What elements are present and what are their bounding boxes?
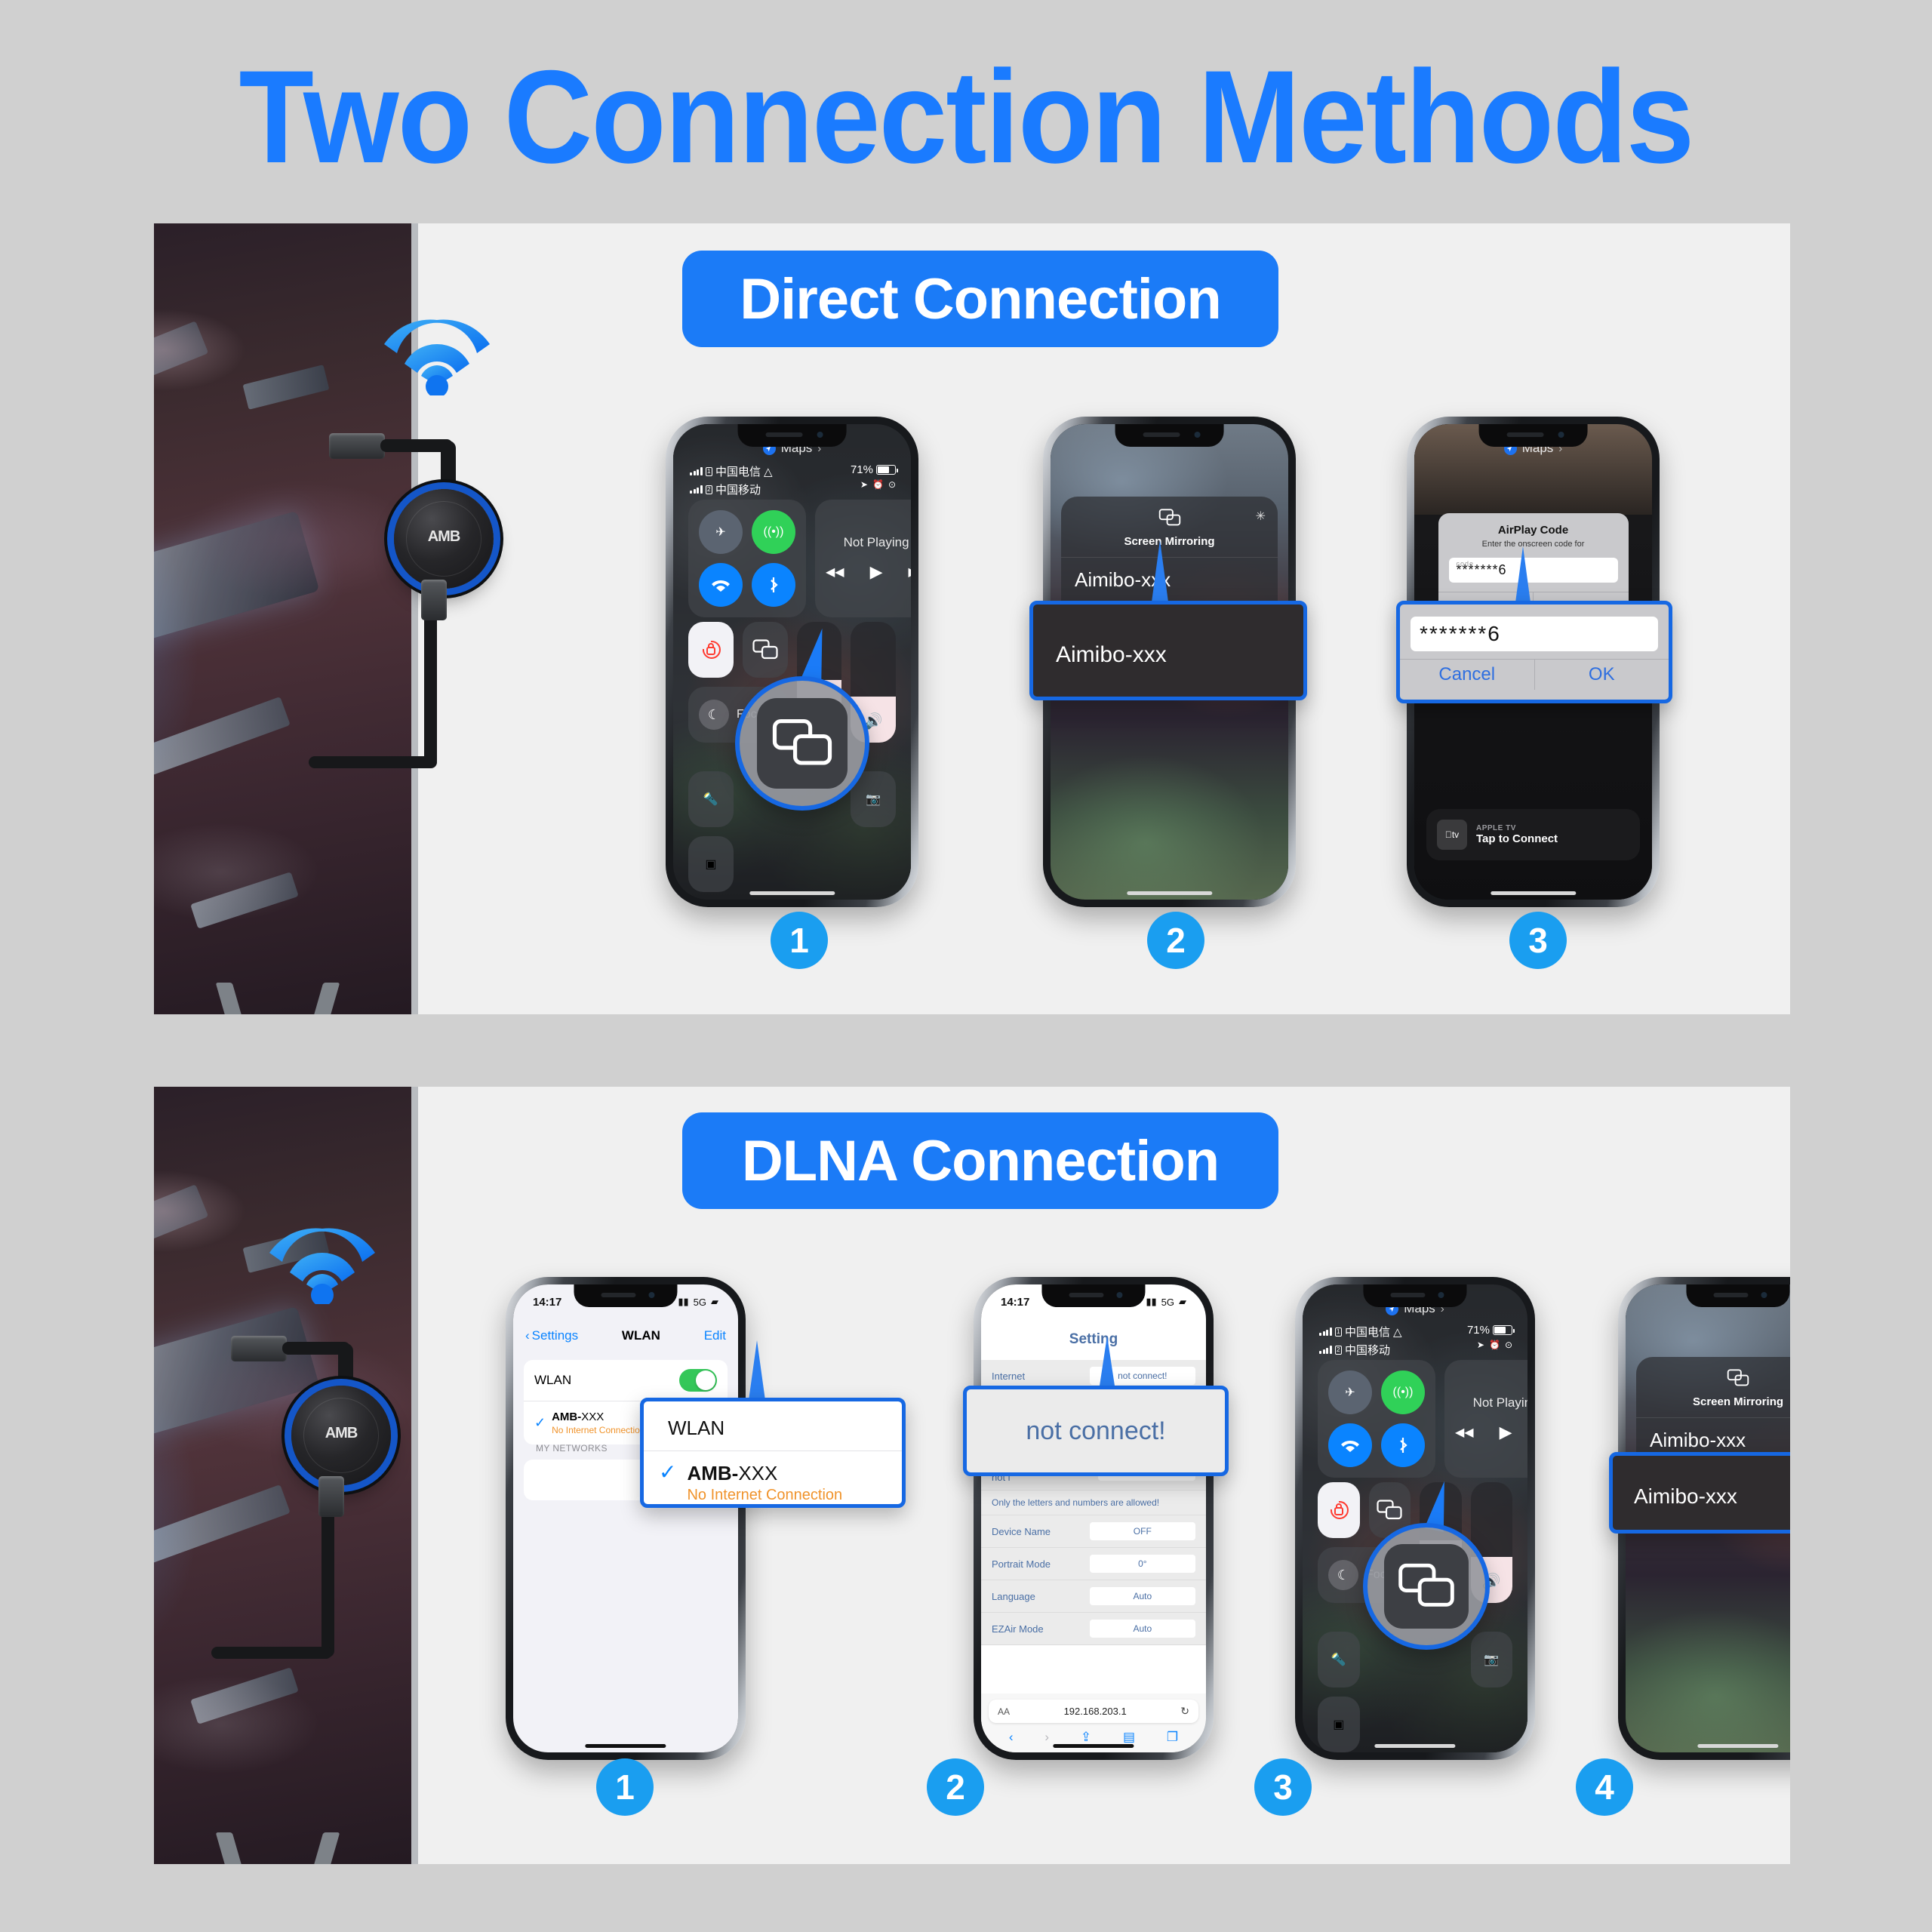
apple-tv-action: Tap to Connect: [1476, 832, 1558, 845]
step-badge-dlna-3: 3: [1254, 1758, 1312, 1816]
not-connect-callout: not connect!: [963, 1386, 1229, 1476]
screen-mirroring-icon: [1727, 1377, 1749, 1390]
row-label: Language: [992, 1591, 1035, 1602]
status-bar: 1 中国电信 △ 2 中国移动 71%: [1319, 1324, 1512, 1358]
dongle-usb-plug: [421, 580, 447, 620]
setting-row-ezair-mode[interactable]: EZAir Mode Auto: [981, 1613, 1206, 1645]
row-value: OFF: [1090, 1522, 1195, 1540]
row-label: Portrait Mode: [992, 1558, 1051, 1570]
tv-stand: [199, 983, 373, 1014]
page-title: WLAN: [622, 1328, 660, 1343]
loading-spinner-icon: ✳: [1256, 509, 1266, 524]
direct-connection-panel: AMB Direct Connection Maps › 1: [154, 223, 1790, 1014]
device-name-callout: Aimibo-xxx: [1029, 601, 1307, 700]
callout-not-connect-text: not connect!: [967, 1389, 1225, 1472]
tabs-icon[interactable]: ❐: [1167, 1730, 1178, 1745]
alarm-icon: ⏰: [1489, 1340, 1500, 1350]
row-value: Auto: [1090, 1620, 1195, 1638]
setting-note: Only the letters and numbers are allowed…: [981, 1491, 1206, 1515]
wifi-toggle-icon[interactable]: [699, 563, 743, 607]
wlan-label: WLAN: [534, 1373, 571, 1388]
edit-button[interactable]: Edit: [704, 1328, 726, 1343]
my-networks-header: MY NETWORKS: [536, 1443, 608, 1454]
step-badge-dlna-2: 2: [927, 1758, 984, 1816]
bluetooth-toggle-icon[interactable]: [752, 563, 795, 607]
step-badge-2: 2: [1147, 912, 1204, 969]
wlan-network-callout: WLAN ✓ AMB-XXX No Internet Connection: [640, 1398, 906, 1508]
network-name: AMB-: [552, 1411, 581, 1423]
battery-icon: ▰: [711, 1296, 718, 1308]
dialog-title: AirPlay Code: [1438, 513, 1629, 538]
dlna-connection-heading: DLNA Connection: [682, 1112, 1278, 1209]
dongle-usb-plug-dlna: [318, 1476, 344, 1517]
step-badge-dlna-4: 4: [1576, 1758, 1633, 1816]
screen-mirroring-icon[interactable]: [743, 622, 788, 678]
location-icon: ➤: [1477, 1340, 1484, 1350]
status-time: 14:17: [533, 1296, 561, 1309]
callout-network-suffix: XXX: [738, 1462, 777, 1484]
previous-track-icon[interactable]: ◀◀: [826, 565, 844, 580]
sheet-title: Screen Mirroring: [1636, 1395, 1790, 1408]
network-status: No Internet Connection: [552, 1425, 645, 1435]
play-icon[interactable]: ▶: [870, 562, 883, 582]
sim2-icon: 2: [1335, 1346, 1342, 1355]
setting-row-portrait-mode[interactable]: Portrait Mode 0°: [981, 1548, 1206, 1580]
play-icon[interactable]: ▶: [1500, 1423, 1512, 1442]
callout-device-name-dlna: Aimibo-xxx: [1613, 1456, 1790, 1509]
step-badge-3: 3: [1509, 912, 1567, 969]
dongle-logo-dlna: AMB: [291, 1425, 391, 1442]
wifi-status-icon: △: [1393, 1325, 1402, 1339]
network-type: 5G: [1161, 1297, 1174, 1308]
row-value: 0°: [1090, 1555, 1195, 1573]
row-value: Auto: [1090, 1587, 1195, 1605]
rotation-lock-icon[interactable]: [1318, 1482, 1360, 1538]
step-badge-1: 1: [771, 912, 828, 969]
now-playing-title: Not Playing: [844, 535, 909, 550]
airplay-code-callout: *******6 Cancel OK: [1396, 601, 1672, 703]
phone-dlna-step3: Maps › 1 中国电信 △ 2 中国移: [1295, 1277, 1535, 1760]
row-label: EZAir Mode: [992, 1623, 1044, 1635]
row-label: Internet: [992, 1371, 1025, 1382]
next-track-icon[interactable]: ▶▶: [909, 565, 911, 580]
callout-device-name: Aimibo-xxx: [1033, 605, 1303, 668]
callout-wlan-title: WLAN: [644, 1401, 902, 1451]
share-icon[interactable]: ⇪: [1081, 1730, 1091, 1745]
tv-stand-dlna: [199, 1832, 373, 1864]
checkmark-icon: ✓: [534, 1415, 546, 1431]
connectivity-card: ✈ ((•)): [1318, 1360, 1435, 1478]
callout-checkmark-icon: ✓: [659, 1462, 676, 1483]
reload-icon[interactable]: ↻: [1180, 1705, 1189, 1718]
apple-tv-icon: tv: [1437, 820, 1467, 850]
device-name-callout-dlna: Aimibo-xxx: [1609, 1452, 1790, 1534]
callout-network-status: No Internet Connection: [687, 1487, 842, 1504]
carrier-2: 中国移动: [1345, 1342, 1390, 1358]
text-size-button[interactable]: AA: [998, 1706, 1010, 1717]
apple-tv-item[interactable]: tv APPLE TV Tap to Connect: [1426, 809, 1640, 860]
back-label: Settings: [532, 1328, 578, 1343]
network-name-suffix: XXX: [581, 1411, 604, 1423]
airplane-mode-icon[interactable]: ✈: [1328, 1371, 1372, 1414]
phone-direct-step1: Maps › 1 中国电信 △ 2 中国移: [666, 417, 918, 907]
forward-icon: ›: [1044, 1730, 1049, 1745]
orientation-lock-icon: ⊙: [1505, 1340, 1512, 1350]
screen-mirroring-magnifier: [735, 676, 869, 811]
callout-network-name: AMB-: [687, 1462, 738, 1484]
phone-dlna-step2: 14:17 ▮▮ 5G ▰ Setting Internet not conne…: [974, 1277, 1214, 1760]
sim2-icon: 2: [706, 485, 712, 494]
signal-icon: ▮▮: [1146, 1296, 1156, 1308]
camera-icon[interactable]: 📷: [1471, 1632, 1513, 1687]
airplane-mode-icon[interactable]: ✈: [699, 510, 743, 554]
battery-percent: 71%: [851, 463, 873, 476]
wifi-icon: [380, 306, 494, 395]
callout-ok-button[interactable]: OK: [1535, 660, 1669, 690]
tv-screen: [154, 223, 418, 1014]
signal-bars-icon-2: [1319, 1346, 1332, 1354]
signal-bars-icon: [690, 467, 703, 475]
wifi-status-icon: △: [764, 465, 773, 478]
signal-bars-icon: [1319, 1327, 1332, 1336]
step-badge-dlna-1: 1: [596, 1758, 654, 1816]
media-card[interactable]: ◬ Not Playing ◀◀ ▶ ▶▶: [1444, 1360, 1527, 1478]
screen-mirroring-icon-zoomed: [1384, 1544, 1469, 1629]
cellular-data-icon[interactable]: ((•)): [752, 510, 795, 554]
bookmarks-icon[interactable]: ▤: [1123, 1730, 1135, 1745]
moon-icon: ☾: [699, 700, 729, 730]
callout-code-value: *******6: [1411, 617, 1658, 651]
connectivity-card: ✈ ((•)): [688, 500, 806, 617]
carrier-1: 中国电信: [1345, 1324, 1390, 1340]
setting-row-device-name-2[interactable]: Device Name OFF: [981, 1515, 1206, 1548]
sim1-icon: 1: [706, 467, 712, 476]
qr-scanner-icon[interactable]: ▣: [688, 836, 734, 892]
screen-mirroring-icon: [1158, 517, 1181, 530]
direct-connection-heading: Direct Connection: [682, 251, 1278, 347]
rotation-lock-icon[interactable]: [688, 622, 734, 678]
apple-tv-kicker: APPLE TV: [1476, 824, 1558, 832]
sim1-icon: 1: [1335, 1327, 1342, 1337]
signal-icon: ▮▮: [678, 1296, 688, 1308]
dongle-logo: AMB: [394, 528, 494, 546]
flashlight-icon[interactable]: 🔦: [688, 771, 734, 827]
back-icon[interactable]: ‹: [1009, 1730, 1014, 1745]
page-title: Two Connection Methods: [68, 51, 1865, 183]
cellular-data-icon[interactable]: ((•)): [1381, 1371, 1425, 1414]
status-time: 14:17: [1001, 1296, 1029, 1309]
orientation-lock-icon: ⊙: [888, 479, 896, 490]
infographic-page: Two Connection Methods: [0, 0, 1932, 1932]
previous-track-icon[interactable]: ◀◀: [1455, 1425, 1474, 1440]
callout-cancel-button[interactable]: Cancel: [1400, 660, 1535, 690]
wifi-toggle-icon[interactable]: [1328, 1423, 1372, 1467]
bluetooth-toggle-icon[interactable]: [1381, 1423, 1425, 1467]
flashlight-icon[interactable]: 🔦: [1318, 1632, 1360, 1687]
battery-indicator: 71%: [1467, 1324, 1512, 1337]
carrier-1: 中国电信: [715, 463, 761, 479]
status-bar: 1 中国电信 △ 2 中国移动 71%: [690, 463, 896, 497]
battery-icon: ▰: [1179, 1296, 1186, 1308]
signal-bars-icon-2: [690, 485, 703, 494]
media-card[interactable]: ◬ Not Playing ◀◀ ▶ ▶▶: [815, 500, 911, 617]
dlna-connection-panel: AMB DLNA Connection 14:17 ▮▮ 5G ▰: [154, 1087, 1790, 1864]
url-text: 192.168.203.1: [1064, 1706, 1127, 1717]
row-label: Device Name: [992, 1526, 1051, 1537]
tv-screen-dlna: [154, 1087, 418, 1864]
network-type: 5G: [694, 1297, 706, 1308]
wlan-toggle-row[interactable]: WLAN: [524, 1360, 728, 1401]
screen-mirroring-magnifier-dlna: [1363, 1523, 1490, 1650]
battery-percent: 71%: [1467, 1324, 1490, 1337]
location-icon: ➤: [860, 479, 868, 490]
battery-indicator: 71%: [851, 463, 896, 476]
back-to-settings-button[interactable]: ‹ Settings: [525, 1328, 578, 1343]
setting-row-language[interactable]: Language Auto: [981, 1580, 1206, 1613]
code-placeholder: code: [1457, 560, 1475, 568]
phone-dlna-step1: 14:17 ▮▮ 5G ▰ ‹ Settings WLAN Edit: [506, 1277, 746, 1760]
now-playing-title: Not Playing: [1473, 1395, 1527, 1411]
qr-scanner-icon[interactable]: ▣: [1318, 1697, 1360, 1752]
carrier-2: 中国移动: [715, 481, 761, 497]
wifi-icon-dlna: [266, 1215, 379, 1304]
screen-mirroring-icon-zoomed: [757, 698, 848, 789]
wlan-toggle[interactable]: [679, 1369, 717, 1392]
url-bar[interactable]: AA 192.168.203.1 ↻: [989, 1700, 1198, 1723]
chevron-left-icon: ‹: [525, 1328, 530, 1343]
moon-icon: ☾: [1328, 1560, 1358, 1590]
alarm-icon: ⏰: [872, 479, 884, 490]
setting-page-title: Setting: [981, 1331, 1206, 1348]
